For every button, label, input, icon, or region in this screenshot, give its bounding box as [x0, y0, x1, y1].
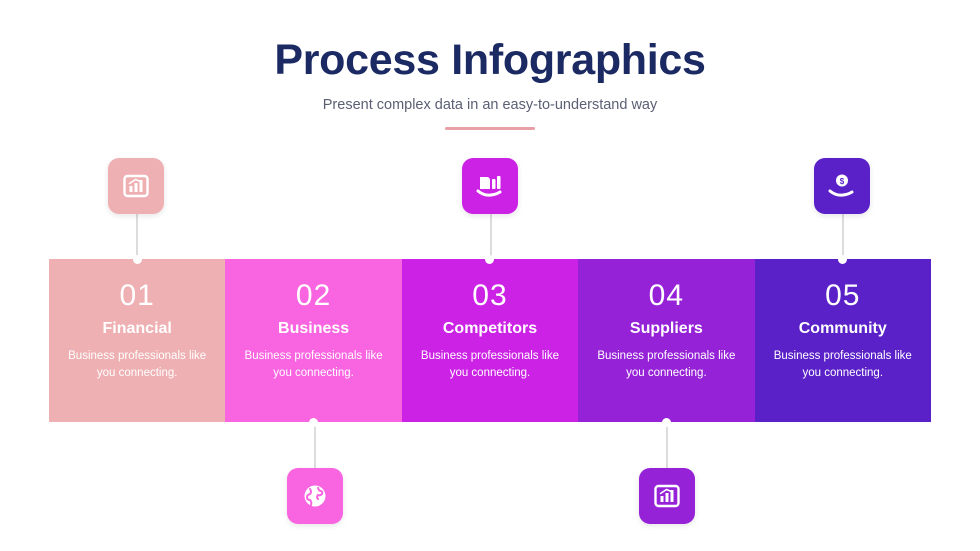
process-step-2[interactable]: 02 Business Business professionals like …	[225, 259, 401, 422]
process-step-4[interactable]: 04 Suppliers Business professionals like…	[578, 259, 754, 422]
process-step-1[interactable]: 01 Financial Business professionals like…	[49, 259, 225, 422]
page-subtitle: Present complex data in an easy-to-under…	[0, 97, 980, 113]
svg-text:$: $	[840, 177, 845, 186]
step-number: 02	[225, 281, 401, 311]
hand-book-icon	[475, 172, 505, 200]
step-description: Business professionals like you connecti…	[239, 348, 389, 381]
slide-canvas: Process Infographics Present complex dat…	[0, 0, 980, 551]
icon-tile-step-3[interactable]	[462, 158, 518, 214]
connector-line-step-4	[666, 420, 668, 470]
connector-dot-step-5	[838, 255, 847, 264]
page-title: Process Infographics	[0, 38, 980, 83]
connector-dot-step-2	[309, 418, 318, 427]
process-step-3[interactable]: 03 Competitors Business professionals li…	[402, 259, 578, 422]
step-title: Business	[225, 321, 401, 337]
step-title: Financial	[49, 321, 225, 337]
icon-tile-step-5[interactable]: $	[814, 158, 870, 214]
step-number: 01	[49, 281, 225, 311]
step-description: Business professionals like you connecti…	[62, 348, 212, 381]
step-description: Business professionals like you connecti…	[768, 348, 918, 381]
icon-tile-step-1[interactable]	[108, 158, 164, 214]
process-step-5[interactable]: 05 Community Business professionals like…	[755, 259, 931, 422]
connector-line-step-2	[314, 420, 316, 470]
bar-chart-icon	[653, 482, 681, 510]
step-description: Business professionals like you connecti…	[415, 348, 565, 381]
slide-header: Process Infographics Present complex dat…	[0, 38, 980, 130]
step-title: Community	[755, 321, 931, 337]
step-number: 03	[402, 281, 578, 311]
step-number: 04	[578, 281, 754, 311]
step-description: Business professionals like you connecti…	[591, 348, 741, 381]
icon-tile-step-2[interactable]	[287, 468, 343, 524]
globe-icon	[301, 482, 329, 510]
step-number: 05	[755, 281, 931, 311]
connector-dot-step-3	[485, 255, 494, 264]
connector-dot-step-4	[662, 418, 671, 427]
process-step-bar: 01 Financial Business professionals like…	[49, 259, 931, 422]
icon-tile-step-4[interactable]	[639, 468, 695, 524]
step-title: Suppliers	[578, 321, 754, 337]
step-title: Competitors	[402, 321, 578, 337]
bar-chart-icon	[122, 172, 150, 200]
hand-coin-icon: $	[827, 172, 857, 200]
connector-dot-step-1	[133, 255, 142, 264]
title-underline-rule	[445, 127, 535, 130]
